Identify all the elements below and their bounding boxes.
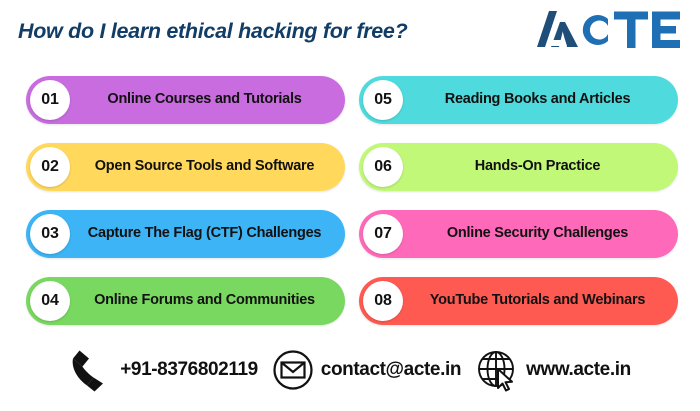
phone-icon [69,347,113,393]
grid-cell: 08 YouTube Tutorials and Webinars [359,267,678,334]
item-label: Online Security Challenges [359,225,678,242]
envelope-icon [272,349,314,391]
grid-cell: 01 Online Courses and Tutorials [26,66,345,133]
item-label: Reading Books and Articles [359,91,678,108]
grid-cell: 06 Hands-On Practice [359,133,678,200]
item-number-badge: 07 [363,214,403,254]
page-title: How do I learn ethical hacking for free? [18,21,407,43]
header: How do I learn ethical hacking for free? [0,0,700,62]
list-item[interactable]: 08 YouTube Tutorials and Webinars [359,277,678,325]
item-number-badge: 08 [363,281,403,321]
acte-logo-icon [534,7,684,53]
globe-cursor-icon [475,348,519,392]
phone-text: +91-8376802119 [120,359,258,381]
item-number-badge: 01 [30,80,70,120]
grid-cell: 05 Reading Books and Articles [359,66,678,133]
item-number-badge: 06 [363,147,403,187]
item-number-badge: 05 [363,80,403,120]
contact-email[interactable]: contact@acte.in [272,349,461,391]
grid-cell: 04 Online Forums and Communities [26,267,345,334]
list-item[interactable]: 01 Online Courses and Tutorials [26,76,345,124]
grid-cell: 07 Online Security Challenges [359,200,678,267]
list-item[interactable]: 03 Capture The Flag (CTF) Challenges [26,210,345,258]
list-item[interactable]: 07 Online Security Challenges [359,210,678,258]
email-text: contact@acte.in [321,359,461,381]
item-label: Open Source Tools and Software [26,158,345,175]
item-number-badge: 04 [30,281,70,321]
item-label: Online Forums and Communities [26,292,345,309]
item-label: Capture The Flag (CTF) Challenges [26,225,345,242]
item-label: Hands-On Practice [359,158,678,175]
list-item[interactable]: 05 Reading Books and Articles [359,76,678,124]
grid-cell: 03 Capture The Flag (CTF) Challenges [26,200,345,267]
list-item[interactable]: 04 Online Forums and Communities [26,277,345,325]
item-number-badge: 02 [30,147,70,187]
list-item[interactable]: 02 Open Source Tools and Software [26,143,345,191]
contact-website[interactable]: www.acte.in [475,348,631,392]
list-item[interactable]: 06 Hands-On Practice [359,143,678,191]
item-label: Online Courses and Tutorials [26,91,345,108]
contact-phone[interactable]: +91-8376802119 [69,347,258,393]
item-number-badge: 03 [30,214,70,254]
item-label: YouTube Tutorials and Webinars [359,292,678,309]
contact-bar: +91-8376802119 contact@acte.in www.acte.… [0,335,700,411]
website-text: www.acte.in [526,359,631,381]
acte-logo [534,7,684,53]
grid-cell: 02 Open Source Tools and Software [26,133,345,200]
items-grid: 01 Online Courses and Tutorials 05 Readi… [0,66,700,334]
